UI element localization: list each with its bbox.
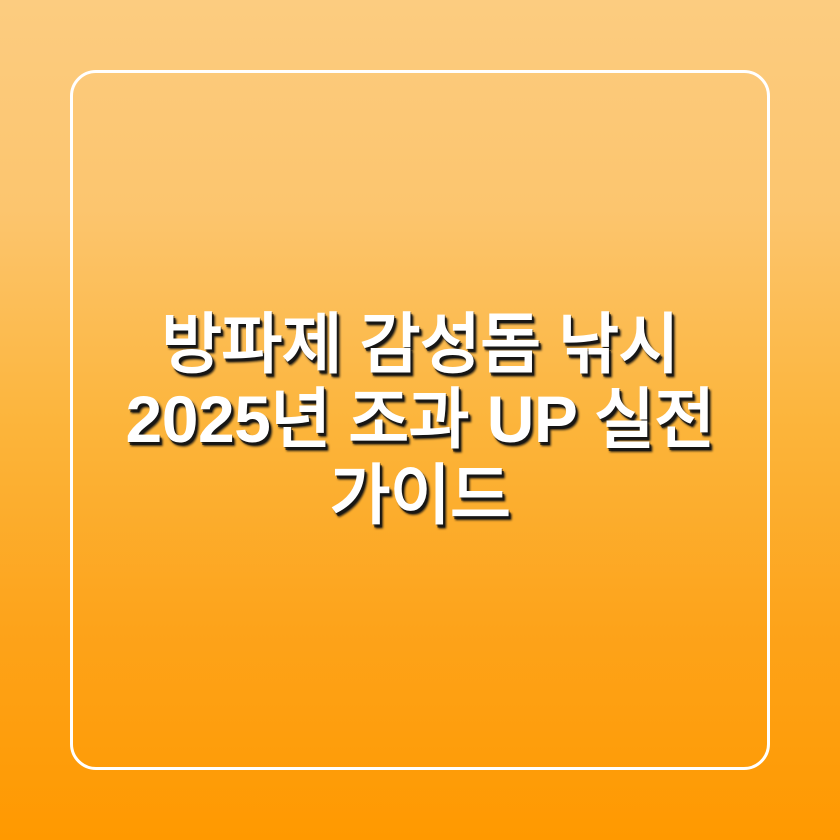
page-title: 방파제 감성돔 낚시 2025년 조과 UP 실전 가이드	[92, 307, 748, 533]
title-container: 방파제 감성돔 낚시 2025년 조과 UP 실전 가이드	[70, 70, 770, 770]
thumbnail-card: 방파제 감성돔 낚시 2025년 조과 UP 실전 가이드	[0, 0, 840, 840]
